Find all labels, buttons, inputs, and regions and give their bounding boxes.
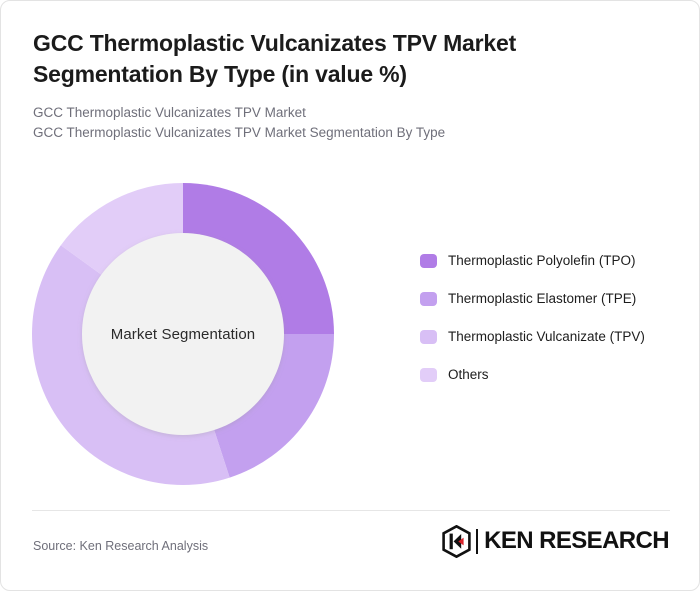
legend-item-label: Thermoplastic Vulcanizate (TPV) <box>448 327 645 346</box>
legend-item-label: Thermoplastic Polyolefin (TPO) <box>448 251 636 270</box>
footer-divider <box>32 510 670 511</box>
subtitle-block: GCC Thermoplastic Vulcanizates TPV Marke… <box>33 103 633 143</box>
page-title: GCC Thermoplastic Vulcanizates TPV Marke… <box>33 28 633 89</box>
brand-name: KEN RESEARCH <box>484 529 669 553</box>
legend-item-label: Thermoplastic Elastomer (TPE) <box>448 289 636 308</box>
logo-divider <box>476 529 478 554</box>
legend-item[interactable]: Thermoplastic Polyolefin (TPO) <box>420 251 682 270</box>
donut-chart: Market Segmentation <box>32 183 334 485</box>
ken-research-hexagon-k-logo-icon <box>442 525 471 558</box>
legend-swatch-icon <box>420 330 437 344</box>
subtitle-line-1: GCC Thermoplastic Vulcanizates TPV Marke… <box>33 103 633 123</box>
legend-item[interactable]: Thermoplastic Vulcanizate (TPV) <box>420 327 682 346</box>
legend-item[interactable]: Thermoplastic Elastomer (TPE) <box>420 289 682 308</box>
subtitle-line-2: GCC Thermoplastic Vulcanizates TPV Marke… <box>33 123 633 143</box>
legend-swatch-icon <box>420 368 437 382</box>
chart-legend: Thermoplastic Polyolefin (TPO)Thermoplas… <box>420 251 682 385</box>
donut-hole <box>82 233 284 435</box>
chart-header: GCC Thermoplastic Vulcanizates TPV Marke… <box>33 28 633 143</box>
legend-item-label: Others <box>448 365 489 384</box>
legend-swatch-icon <box>420 254 437 268</box>
legend-swatch-icon <box>420 292 437 306</box>
brand-logo: KEN RESEARCH <box>442 524 669 558</box>
source-note: Source: Ken Research Analysis <box>33 539 208 553</box>
donut-svg <box>32 183 334 485</box>
legend-item[interactable]: Others <box>420 365 682 384</box>
chart-card: GCC Thermoplastic Vulcanizates TPV Marke… <box>0 0 700 591</box>
